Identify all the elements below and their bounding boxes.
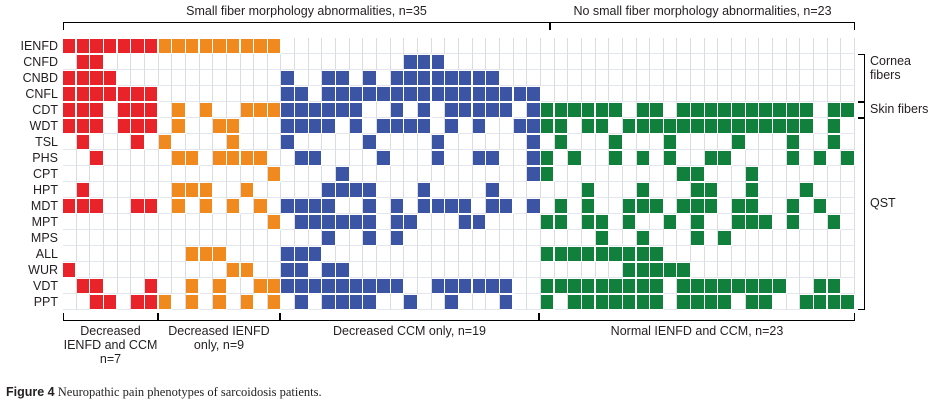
heatmap-cell-empty	[773, 230, 787, 246]
heatmap-cell-filled	[787, 135, 799, 150]
heatmap-cell-empty	[336, 150, 350, 166]
heatmap-cell-filled	[404, 71, 416, 86]
heatmap-cell-empty	[732, 262, 746, 278]
heatmap-cell-empty	[186, 198, 200, 214]
heatmap-cell-filled	[759, 119, 771, 134]
heatmap-cell-filled	[268, 295, 280, 310]
heatmap-cell-empty	[131, 182, 145, 198]
heatmap-cell-filled	[295, 151, 307, 166]
heatmap-cell-filled	[541, 167, 553, 182]
heatmap-cell-filled	[213, 279, 225, 294]
heatmap-cell-filled	[623, 215, 635, 230]
heatmap-cell-empty	[732, 54, 746, 70]
side-bracket-qst	[858, 118, 865, 310]
heatmap-cell-filled	[527, 167, 539, 182]
heatmap-cell-empty	[609, 182, 623, 198]
heatmap-cell-filled	[718, 231, 730, 246]
heatmap-cell-filled	[118, 103, 130, 118]
heatmap-cell-filled	[596, 247, 608, 262]
heatmap-cell-empty	[500, 38, 514, 54]
heatmap-cell-empty	[705, 86, 719, 102]
heatmap-cell-empty	[677, 214, 691, 230]
heatmap-cell-empty	[787, 166, 801, 182]
heatmap-cell-filled	[555, 199, 567, 214]
heatmap-cell-filled	[500, 103, 512, 118]
heatmap-cell-empty	[268, 246, 282, 262]
heatmap-cell-empty	[90, 166, 104, 182]
heatmap-cell-empty	[486, 262, 500, 278]
top-bracket-small-fiber	[63, 22, 550, 30]
heatmap-cell-empty	[527, 54, 541, 70]
heatmap-cell-filled	[787, 151, 799, 166]
heatmap-cell-empty	[377, 134, 391, 150]
heatmap-cell-filled	[432, 199, 444, 214]
row-label-mps: MPS	[0, 230, 58, 246]
heatmap-cell-empty	[459, 134, 473, 150]
heatmap-cell-empty	[841, 278, 855, 294]
heatmap-cell-filled	[650, 199, 662, 214]
heatmap-cell-filled	[118, 119, 130, 134]
heatmap-cell-filled	[527, 119, 539, 134]
heatmap-cell-filled	[363, 135, 375, 150]
heatmap-cell-empty	[650, 182, 664, 198]
heatmap-cell-filled	[77, 103, 89, 118]
heatmap-cell-empty	[77, 214, 91, 230]
heatmap-cell-empty	[336, 54, 350, 70]
heatmap-cell-filled	[336, 87, 348, 102]
top-group-label-no-small-fiber: No small fiber morphology abnormalities,…	[550, 4, 855, 18]
heatmap-cell-filled	[637, 295, 649, 310]
heatmap-cell-filled	[391, 279, 403, 294]
heatmap-cell-empty	[377, 246, 391, 262]
heatmap-cell-empty	[596, 150, 610, 166]
heatmap-cell-filled	[336, 183, 348, 198]
heatmap-cell-filled	[582, 103, 594, 118]
heatmap-cell-filled	[514, 119, 526, 134]
row-label-tsl: TSL	[0, 134, 58, 150]
heatmap-cell-filled	[555, 279, 567, 294]
heatmap-cell-empty	[295, 230, 309, 246]
heatmap-cell-empty	[677, 150, 691, 166]
heatmap-cell-empty	[650, 70, 664, 86]
heatmap-cell-empty	[118, 54, 132, 70]
heatmap-cell-empty	[254, 294, 268, 310]
heatmap-cell-empty	[787, 262, 801, 278]
heatmap-cell-empty	[568, 70, 582, 86]
heatmap-cell-filled	[63, 263, 75, 278]
heatmap-cell-empty	[241, 278, 255, 294]
heatmap-cell-empty	[213, 230, 227, 246]
heatmap-cell-empty	[677, 38, 691, 54]
heatmap-cell-filled	[473, 71, 485, 86]
heatmap-cell-filled	[759, 215, 771, 230]
heatmap-cell-empty	[445, 182, 459, 198]
heatmap-cell-filled	[677, 279, 689, 294]
heatmap-cell-filled	[623, 263, 635, 278]
heatmap-cell-filled	[527, 103, 539, 118]
heatmap-cell-empty	[787, 278, 801, 294]
bottom-bracket-decreased-ienfd-and-ccm	[63, 313, 158, 321]
side-bracket-cornea-fibers	[858, 54, 865, 102]
heatmap-cell-empty	[63, 166, 77, 182]
heatmap-cell-filled	[773, 279, 785, 294]
heatmap-cell-empty	[336, 230, 350, 246]
heatmap-cell-empty	[418, 262, 432, 278]
heatmap-cell-empty	[391, 166, 405, 182]
heatmap-cell-filled	[295, 103, 307, 118]
heatmap-cell-empty	[104, 230, 118, 246]
heatmap-cell-empty	[773, 166, 787, 182]
heatmap-cell-empty	[131, 150, 145, 166]
heatmap-cell-empty	[814, 230, 828, 246]
heatmap-cell-empty	[268, 150, 282, 166]
heatmap-cell-empty	[664, 70, 678, 86]
heatmap-cell-empty	[159, 246, 173, 262]
heatmap-cell-filled	[664, 215, 676, 230]
heatmap-cell-filled	[145, 103, 157, 118]
heatmap-cell-filled	[582, 247, 594, 262]
heatmap-cell-filled	[90, 295, 102, 310]
heatmap-cell-empty	[541, 86, 555, 102]
heatmap-cell-empty	[104, 278, 118, 294]
heatmap-cell-filled	[746, 215, 758, 230]
heatmap-cell-empty	[104, 182, 118, 198]
heatmap-cell-empty	[63, 294, 77, 310]
heatmap-cell-filled	[295, 279, 307, 294]
heatmap-cell-empty	[254, 54, 268, 70]
heatmap-cell-empty	[568, 86, 582, 102]
heatmap-row	[63, 182, 855, 198]
heatmap-cell-empty	[691, 70, 705, 86]
heatmap-cell-empty	[281, 150, 295, 166]
heatmap-cell-filled	[200, 103, 212, 118]
heatmap-cell-filled	[186, 295, 198, 310]
heatmap-cell-empty	[227, 246, 241, 262]
heatmap-cell-empty	[391, 246, 405, 262]
heatmap-cell-filled	[486, 183, 498, 198]
heatmap-cell-filled	[596, 119, 608, 134]
heatmap-cell-filled	[77, 199, 89, 214]
heatmap-cell-filled	[200, 199, 212, 214]
heatmap-cell-empty	[841, 118, 855, 134]
heatmap-cell-filled	[650, 295, 662, 310]
heatmap-cell-empty	[200, 166, 214, 182]
heatmap-cell-empty	[568, 134, 582, 150]
heatmap-cell-empty	[718, 198, 732, 214]
heatmap-cell-empty	[459, 182, 473, 198]
heatmap-cell-empty	[241, 70, 255, 86]
heatmap-cell-filled	[828, 119, 840, 134]
heatmap-cell-empty	[486, 230, 500, 246]
heatmap-cell-empty	[90, 134, 104, 150]
heatmap-cell-filled	[746, 103, 758, 118]
heatmap-cell-empty	[145, 134, 159, 150]
heatmap-cell-filled	[200, 39, 212, 54]
heatmap-cell-filled	[322, 87, 334, 102]
heatmap-cell-filled	[650, 119, 662, 134]
heatmap-cell-filled	[473, 215, 485, 230]
heatmap-cell-empty	[677, 86, 691, 102]
heatmap-cell-empty	[377, 54, 391, 70]
heatmap-cell-filled	[241, 103, 253, 118]
heatmap-cell-filled	[227, 39, 239, 54]
heatmap-cell-empty	[254, 134, 268, 150]
heatmap-cell-filled	[254, 151, 266, 166]
row-label-mpt: MPT	[0, 214, 58, 230]
bottom-group-label-decreased-ccm-only: Decreased CCM only, n=19	[280, 324, 539, 338]
heatmap-cell-empty	[309, 262, 323, 278]
heatmap-cell-empty	[691, 54, 705, 70]
heatmap-cell-empty	[486, 166, 500, 182]
heatmap-cell-empty	[432, 294, 446, 310]
heatmap-cell-empty	[104, 118, 118, 134]
heatmap-cell-filled	[350, 103, 362, 118]
heatmap-cell-empty	[650, 38, 664, 54]
heatmap-cell-filled	[213, 39, 225, 54]
heatmap-cell-filled	[90, 87, 102, 102]
heatmap-cell-empty	[609, 230, 623, 246]
heatmap-cell-empty	[363, 38, 377, 54]
heatmap-cell-empty	[664, 54, 678, 70]
heatmap-cell-filled	[418, 119, 430, 134]
heatmap-cell-filled	[172, 199, 184, 214]
heatmap-cell-filled	[541, 279, 553, 294]
heatmap-cell-empty	[677, 54, 691, 70]
heatmap-cell-empty	[213, 54, 227, 70]
figure-panel: Small fiber morphology abnormalities, n=…	[0, 0, 942, 409]
heatmap-cell-filled	[596, 215, 608, 230]
heatmap-cell-empty	[473, 182, 487, 198]
heatmap-row	[63, 214, 855, 230]
heatmap-cell-empty	[227, 294, 241, 310]
heatmap-cell-filled	[227, 263, 239, 278]
heatmap-cell-empty	[650, 166, 664, 182]
heatmap-cell-empty	[773, 86, 787, 102]
heatmap-cell-empty	[596, 70, 610, 86]
heatmap-cell-empty	[718, 182, 732, 198]
heatmap-cell-filled	[295, 215, 307, 230]
heatmap-cell-filled	[281, 103, 293, 118]
heatmap-cell-filled	[90, 119, 102, 134]
heatmap-cell-filled	[186, 247, 198, 262]
heatmap-cell-filled	[63, 199, 75, 214]
heatmap-cell-filled	[445, 103, 457, 118]
side-label-cornea-fibers: Cornea fibers	[870, 54, 940, 82]
heatmap-cell-empty	[322, 166, 336, 182]
heatmap-cell-empty	[814, 134, 828, 150]
heatmap-cell-empty	[432, 214, 446, 230]
heatmap-cell-filled	[63, 71, 75, 86]
heatmap-cell-filled	[705, 279, 717, 294]
heatmap-cell-empty	[773, 214, 787, 230]
heatmap-cell-empty	[759, 150, 773, 166]
heatmap-cell-empty	[637, 214, 651, 230]
heatmap-cell-empty	[104, 134, 118, 150]
heatmap-cell-empty	[391, 150, 405, 166]
heatmap-cell-empty	[281, 230, 295, 246]
heatmap-cell-filled	[159, 39, 171, 54]
heatmap-cell-empty	[445, 166, 459, 182]
heatmap-cell-filled	[404, 119, 416, 134]
heatmap-row	[63, 102, 855, 118]
heatmap-cell-empty	[486, 134, 500, 150]
heatmap-cell-filled	[746, 183, 758, 198]
heatmap-cell-filled	[828, 279, 840, 294]
heatmap-cell-filled	[295, 87, 307, 102]
heatmap-cell-filled	[363, 231, 375, 246]
heatmap-cell-filled	[787, 215, 799, 230]
heatmap-cell-empty	[473, 294, 487, 310]
heatmap-cell-empty	[445, 230, 459, 246]
heatmap-cell-empty	[541, 182, 555, 198]
heatmap-cell-empty	[609, 262, 623, 278]
heatmap-cell-empty	[241, 166, 255, 182]
heatmap-cell-filled	[295, 295, 307, 310]
heatmap-cell-filled	[650, 263, 662, 278]
heatmap-cell-empty	[759, 86, 773, 102]
heatmap-cell-filled	[322, 103, 334, 118]
heatmap-cell-empty	[295, 134, 309, 150]
heatmap-cell-filled	[677, 263, 689, 278]
heatmap-cell-filled	[241, 183, 253, 198]
heatmap-cell-empty	[623, 134, 637, 150]
heatmap-cell-empty	[841, 214, 855, 230]
heatmap-cell-filled	[391, 199, 403, 214]
heatmap-cell-filled	[63, 87, 75, 102]
heatmap-cell-filled	[637, 263, 649, 278]
heatmap-cell-filled	[623, 247, 635, 262]
heatmap-cell-filled	[336, 295, 348, 310]
figure-caption: Figure 4 Neuropathic pain phenotypes of …	[6, 385, 322, 400]
heatmap-cell-empty	[514, 150, 528, 166]
heatmap-cell-empty	[186, 118, 200, 134]
heatmap-cell-filled	[623, 119, 635, 134]
heatmap-cell-empty	[350, 262, 364, 278]
heatmap-cell-empty	[637, 134, 651, 150]
heatmap-cell-filled	[609, 295, 621, 310]
heatmap-cell-empty	[145, 54, 159, 70]
heatmap-cell-filled	[363, 71, 375, 86]
heatmap-cell-filled	[459, 199, 471, 214]
heatmap-cell-filled	[445, 295, 457, 310]
heatmap-cell-filled	[432, 55, 444, 70]
heatmap-cell-empty	[746, 230, 760, 246]
heatmap-cell-filled	[172, 151, 184, 166]
heatmap-cell-filled	[63, 39, 75, 54]
heatmap-cell-filled	[322, 71, 334, 86]
heatmap-row	[63, 70, 855, 86]
heatmap-cell-empty	[800, 54, 814, 70]
heatmap-cell-empty	[281, 166, 295, 182]
heatmap-cell-empty	[404, 246, 418, 262]
heatmap-cell-empty	[118, 262, 132, 278]
heatmap-cell-filled	[555, 119, 567, 134]
heatmap-cell-filled	[664, 263, 676, 278]
figure-caption-text: Neuropathic pain phenotypes of sarcoidos…	[55, 385, 322, 399]
heatmap-cell-filled	[541, 103, 553, 118]
heatmap-cell-empty	[800, 70, 814, 86]
heatmap-cell-empty	[445, 150, 459, 166]
heatmap-cell-filled	[541, 119, 553, 134]
heatmap-cell-filled	[404, 215, 416, 230]
heatmap-cell-empty	[459, 294, 473, 310]
heatmap-cell-empty	[773, 70, 787, 86]
heatmap-cell-empty	[459, 246, 473, 262]
heatmap-cell-empty	[391, 294, 405, 310]
heatmap-cell-empty	[568, 182, 582, 198]
heatmap-cell-empty	[787, 70, 801, 86]
heatmap-cell-empty	[309, 182, 323, 198]
heatmap-cell-empty	[404, 166, 418, 182]
heatmap-cell-filled	[555, 103, 567, 118]
heatmap-cell-filled	[377, 87, 389, 102]
heatmap-cell-filled	[131, 119, 143, 134]
row-label-vdt: VDT	[0, 278, 58, 294]
heatmap-cell-filled	[363, 279, 375, 294]
heatmap-cell-empty	[746, 262, 760, 278]
bottom-group-label-decreased-ienfd-only: Decreased IENFD only, n=9	[158, 324, 280, 352]
heatmap-cell-empty	[432, 230, 446, 246]
heatmap-cell-filled	[131, 135, 143, 150]
heatmap-cell-filled	[473, 87, 485, 102]
heatmap-cell-filled	[486, 103, 498, 118]
heatmap-cell-empty	[677, 70, 691, 86]
heatmap-cell-empty	[500, 230, 514, 246]
heatmap-cell-filled	[63, 119, 75, 134]
heatmap-cell-empty	[459, 38, 473, 54]
heatmap-cell-filled	[145, 119, 157, 134]
heatmap-cell-filled	[664, 119, 676, 134]
heatmap-cell-filled	[828, 103, 840, 118]
heatmap-cell-filled	[800, 183, 812, 198]
heatmap-cell-empty	[432, 262, 446, 278]
heatmap-cell-empty	[609, 214, 623, 230]
heatmap-cell-empty	[63, 230, 77, 246]
heatmap-cell-filled	[391, 103, 403, 118]
heatmap-cell-empty	[514, 182, 528, 198]
heatmap-cell-filled	[759, 103, 771, 118]
heatmap-cell-empty	[309, 134, 323, 150]
heatmap-cell-empty	[227, 230, 241, 246]
heatmap-cell-empty	[773, 134, 787, 150]
heatmap-cell-filled	[159, 135, 171, 150]
heatmap-cell-empty	[445, 262, 459, 278]
heatmap-cell-empty	[350, 38, 364, 54]
heatmap-cell-filled	[828, 215, 840, 230]
row-label-cnfd: CNFD	[0, 54, 58, 70]
heatmap-cell-empty	[609, 38, 623, 54]
heatmap-cell-empty	[200, 230, 214, 246]
heatmap-cell-filled	[145, 279, 157, 294]
heatmap-cell-empty	[268, 198, 282, 214]
heatmap-cell-empty	[800, 150, 814, 166]
heatmap-cell-filled	[336, 71, 348, 86]
heatmap-cell-empty	[268, 182, 282, 198]
heatmap-cell-empty	[432, 118, 446, 134]
heatmap-cell-filled	[445, 279, 457, 294]
heatmap-cell-empty	[350, 230, 364, 246]
heatmap-cell-filled	[172, 39, 184, 54]
heatmap-cell-empty	[404, 230, 418, 246]
heatmap-cell-filled	[582, 215, 594, 230]
heatmap-cell-filled	[514, 87, 526, 102]
heatmap-cell-filled	[145, 39, 157, 54]
heatmap-cell-empty	[623, 70, 637, 86]
heatmap-cell-filled	[281, 135, 293, 150]
heatmap-cell-empty	[814, 166, 828, 182]
heatmap-cell-empty	[568, 262, 582, 278]
heatmap-cell-filled	[309, 119, 321, 134]
